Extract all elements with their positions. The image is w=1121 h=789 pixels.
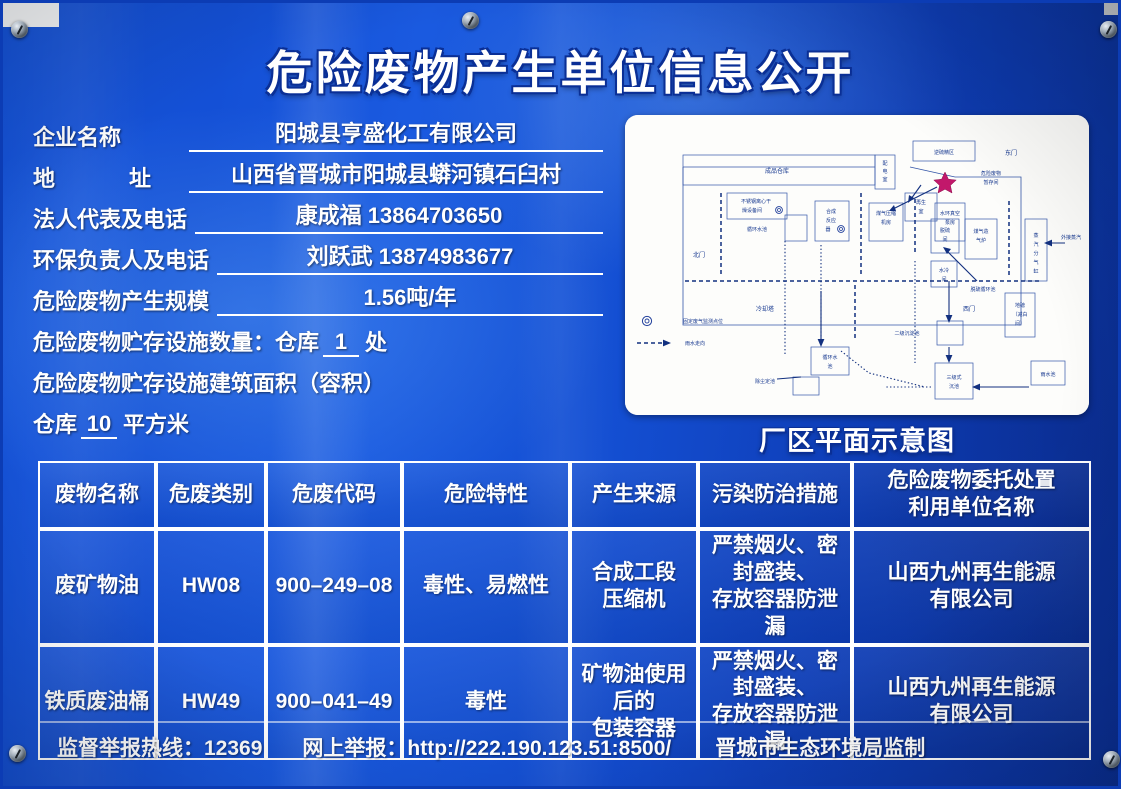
- diagram-caption: 厂区平面示意图: [625, 419, 1089, 458]
- info-label-address: 地 址: [33, 161, 181, 193]
- info-row-address: 地 址 山西省晋城市阳城县蟒河镇石臼村: [33, 152, 603, 193]
- diagram-label-gas-compressor-2: 机房: [881, 219, 891, 226]
- footer-hotline: 监督举报热线：12369: [57, 732, 262, 762]
- info-label-legal-rep: 法人代表及电话: [33, 202, 187, 234]
- table-row: 废矿物油 HW08 900–249–08 毒性、易燃性 合成工段 压缩机 严禁烟…: [38, 529, 1091, 645]
- cell-source: 合成工段 压缩机: [570, 529, 698, 645]
- diagram-label-circulation-pool-1: 循环水池: [747, 226, 767, 233]
- diagram-label-gas-distribution: 蒸: [1033, 232, 1038, 239]
- th-source: 产生来源: [570, 461, 698, 529]
- info-value-env-officer: 刘跃武 13874983677: [217, 239, 603, 275]
- diagram-label-synthesis-reactor: 合成: [826, 208, 836, 215]
- diagram-label-rain-pool: 雨水池: [1040, 371, 1055, 378]
- cell-source-line1: 矿物油使用后的: [575, 662, 693, 716]
- diagram-label-hazwaste-store-2: 暂存间: [983, 179, 998, 186]
- diagram-label-centrifuge: 不锈钢离心干: [741, 198, 771, 205]
- diagram-label-north-gate: 北门: [693, 251, 705, 259]
- diagram-label-synthesis-reactor-3: 器: [825, 227, 830, 233]
- cell-disposal-unit-line1: 山西九州再生能源: [857, 560, 1086, 587]
- legend-text-monitor: 固定废气监测点位: [683, 318, 723, 325]
- info-value-generation-scale: 1.56吨/年: [217, 280, 603, 316]
- diagram-label-gas-distribution-2: 汽: [1033, 241, 1038, 248]
- diagram-label-circulation-pool-2: 循环水: [822, 354, 837, 361]
- footer-online-report[interactable]: 网上举报：http://222.190.123.51:8500/: [302, 732, 671, 762]
- plant-layout-diagram: 成品仓库 配 电 室 逆硫精区 东门 危险废物 暂存间 不锈钢离心干 燥设备间 …: [625, 115, 1089, 415]
- cell-disposal-unit-line2: 有限公司: [857, 587, 1086, 614]
- cell-control-line1: 严禁烟火、密封盛装、: [703, 533, 847, 587]
- board-corner-chip-right: [1104, 3, 1118, 15]
- mounting-screw-bottom-right: [1103, 751, 1120, 768]
- info-unit-facility-count: 处: [365, 325, 387, 357]
- diagram-label-east-gate: 东门: [1005, 149, 1017, 157]
- diagram-label-desulfur: 脱硫: [940, 227, 950, 234]
- diagram-label-sedimentation-3: 三级式: [946, 374, 961, 381]
- diagram-label-regeneration-2: 室: [918, 208, 923, 215]
- info-value-facility-count: 1: [323, 329, 359, 357]
- footer-issuer: 晋城市生态环境局监制: [715, 732, 925, 762]
- information-board: 危险废物产生单位信息公开 企业名称 阳城县亨盛化工有限公司 地 址 山西省晋城市…: [0, 0, 1121, 789]
- mounting-screw-top-right: [1100, 21, 1117, 38]
- th-waste-category: 危废类别: [156, 461, 266, 529]
- diagram-label-regeneration: 再生: [916, 199, 926, 206]
- table-header-row: 废物名称 危废类别 危废代码 危险特性 产生来源 污染防治措施 危险废物委托处置…: [38, 461, 1091, 529]
- cell-control-line2: 存放容器防泄漏: [703, 587, 847, 641]
- info-row-generation-scale: 危险废物产生规模 1.56吨/年: [33, 275, 603, 316]
- diagram-label-dedust: 除尘定池: [755, 378, 775, 385]
- company-info-block: 企业名称 阳城县亨盛化工有限公司 地 址 山西省晋城市阳城县蟒河镇石臼村 法人代…: [33, 111, 603, 439]
- cell-disposal-unit: 山西九州再生能源 有限公司: [852, 529, 1091, 645]
- diagram-label-west-gate: 西门: [963, 305, 975, 313]
- footer-divider: [39, 721, 1089, 723]
- footer-bar: 监督举报热线：12369 网上举报：http://222.190.123.51:…: [39, 732, 1089, 762]
- cell-source-line1: 合成工段: [575, 560, 693, 587]
- diagram-label-gas-distribution-4: 气: [1033, 259, 1038, 266]
- info-label-company-name: 企业名称: [33, 120, 181, 152]
- cell-source-line2: 压缩机: [575, 587, 693, 614]
- info-label-area-warehouse: 仓库: [33, 407, 77, 439]
- info-label-generation-scale: 危险废物产生规模: [33, 284, 209, 316]
- diagram-label-gas-furnace-2: 气炉: [976, 237, 986, 244]
- diagram-label-power-room-3: 室: [882, 176, 887, 183]
- diagram-label-gas-distribution-3: 分: [1033, 250, 1038, 257]
- diagram-label-centrifuge-2: 燥设备间: [742, 207, 762, 214]
- diagram-label-water-cooling-2: 间: [941, 276, 946, 283]
- th-disposal-unit-line1: 危险废物委托处置: [857, 468, 1086, 495]
- diagram-label-external-steam: 外接蒸汽: [1061, 234, 1081, 241]
- th-waste-code: 危废代码: [266, 461, 402, 529]
- diagram-label-desulfur-2: 间: [942, 236, 947, 243]
- diagram-label-weigh-house-2: （减白: [1012, 311, 1027, 318]
- diagram-label-hazwaste-store: 危险废物: [981, 170, 1001, 177]
- th-control-measures: 污染防治措施: [698, 461, 852, 529]
- info-value-address: 山西省晋城市阳城县蟒河镇石臼村: [189, 157, 603, 193]
- cell-waste-category: HW08: [156, 529, 266, 645]
- diagram-label-sedimentation-2: 二级沉淀池: [894, 330, 919, 337]
- th-disposal-unit-line2: 利用单位名称: [857, 495, 1086, 522]
- board-corner-chip: [3, 3, 59, 27]
- info-row-facility-count: 危险废物贮存设施数量：仓库 1 处: [33, 316, 603, 357]
- diagram-label-power-room-2: 电: [882, 168, 887, 175]
- diagram-label-weigh-house: 地磅: [1015, 302, 1025, 309]
- cell-waste-name: 废矿物油: [38, 529, 156, 645]
- diagram-label-synthesis-reactor-2: 反应: [826, 217, 836, 224]
- diagram-label-gas-furnace: 煤气造: [973, 228, 988, 235]
- info-label-address-char1: 地: [33, 161, 55, 193]
- cell-control-line1: 严禁烟火、密封盛装、: [703, 649, 847, 703]
- cell-control-measures: 严禁烟火、密封盛装、 存放容器防泄漏: [698, 529, 852, 645]
- th-waste-name: 废物名称: [38, 461, 156, 529]
- hazardous-waste-table: 废物名称 危废类别 危废代码 危险特性 产生来源 污染防治措施 危险废物委托处置…: [38, 461, 1091, 760]
- cell-disposal-unit-line1: 山西九州再生能源: [857, 675, 1086, 702]
- mounting-screw-top-left: [11, 21, 28, 38]
- info-value-company-name: 阳城县亨盛化工有限公司: [189, 116, 603, 152]
- info-row-legal-rep: 法人代表及电话 康成福 13864703650: [33, 193, 603, 234]
- mounting-screw-top-middle: [462, 12, 479, 29]
- info-row-company-name: 企业名称 阳城县亨盛化工有限公司: [33, 111, 603, 152]
- diagram-label-power-room: 配: [882, 161, 887, 167]
- th-disposal-unit: 危险废物委托处置 利用单位名称: [852, 461, 1091, 529]
- info-label-address-char2: 址: [129, 161, 151, 193]
- info-label-facility-count: 危险废物贮存设施数量：仓库: [33, 325, 319, 357]
- page-title: 危险废物产生单位信息公开: [3, 37, 1118, 103]
- info-label-env-officer: 环保负责人及电话: [33, 243, 209, 275]
- diagram-label-sedimentation-3b: 沉池: [949, 383, 959, 390]
- info-unit-area: 平方米: [123, 407, 189, 439]
- diagram-label-weigh-house-3: 间）: [1015, 320, 1025, 327]
- info-row-env-officer: 环保负责人及电话 刘跃武 13874983677: [33, 234, 603, 275]
- info-label-area-title: 危险废物贮存设施建筑面积（容积）: [33, 366, 385, 398]
- diagram-label-water-ring-pump: 水环真空: [940, 210, 960, 217]
- diagram-label-gas-distribution-5: 缸: [1033, 268, 1038, 275]
- info-value-legal-rep: 康成福 13864703650: [195, 198, 603, 234]
- info-value-area: 10: [81, 411, 117, 439]
- cell-disposal-unit-line2: 有限公司: [857, 702, 1086, 729]
- diagram-label-gas-compressor: 煤气压缩: [876, 210, 896, 217]
- diagram-label-office-area: 逆硫精区: [934, 149, 954, 156]
- legend-text-rainflow: 雨水走向: [685, 340, 705, 347]
- diagram-label-water-cooling: 水冷: [939, 267, 949, 274]
- mounting-screw-bottom-left: [9, 745, 26, 762]
- plant-layout-svg: 成品仓库 配 电 室 逆硫精区 东门 危险废物 暂存间 不锈钢离心干 燥设备间 …: [625, 115, 1089, 415]
- diagram-label-cooling-tower: 冷却塔: [756, 305, 774, 313]
- diagram-label-desulfur-circulation: 脱硫循环池: [970, 286, 995, 293]
- th-hazard-property: 危险特性: [402, 461, 570, 529]
- diagram-label-finished-warehouse: 成品仓库: [765, 167, 789, 175]
- info-row-area-value: 仓库 10 平方米: [33, 398, 603, 439]
- cell-waste-code: 900–249–08: [266, 529, 402, 645]
- diagram-label-circulation-pool-2b: 池: [827, 363, 832, 370]
- diagram-label-water-ring-pump-2: 泵房: [945, 219, 955, 226]
- cell-hazard-property: 毒性、易燃性: [402, 529, 570, 645]
- info-row-area-title: 危险废物贮存设施建筑面积（容积）: [33, 357, 603, 398]
